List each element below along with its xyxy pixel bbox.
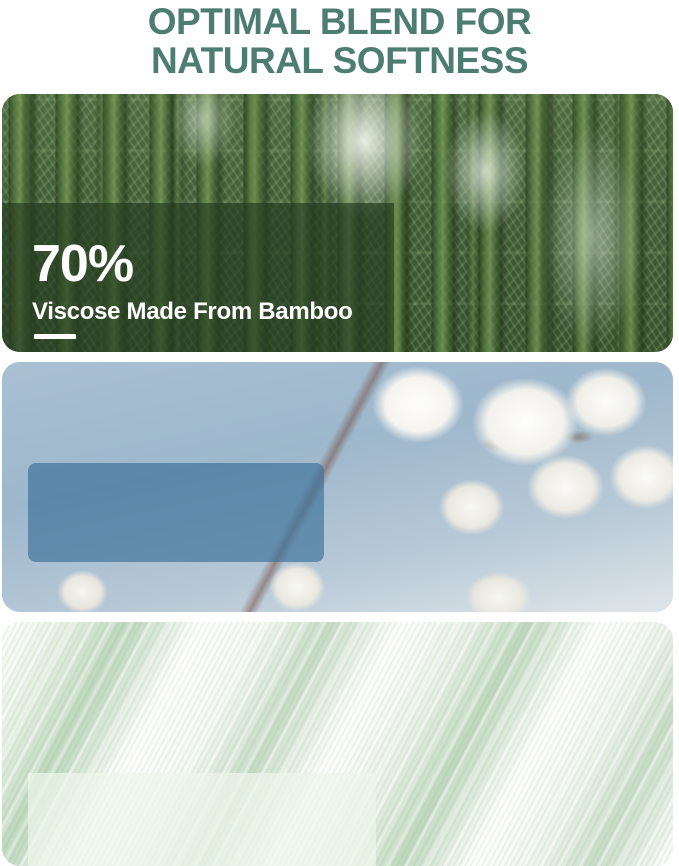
cotton-panel-content: 30% Cotton Durability and pill-resistant bbox=[2, 362, 673, 612]
bamboo-subtitle: Viscose Made From Bamboo bbox=[32, 299, 352, 325]
panel-cotton: 30% Cotton Durability and pill-resistant bbox=[2, 362, 673, 612]
panel-bamboo: 70% Viscose Made From Bamboo Hollow fibe… bbox=[2, 94, 673, 352]
page-title-line-2: NATURAL SOFTNESS bbox=[0, 41, 679, 80]
page-title: OPTIMAL BLEND FOR NATURAL SOFTNESS bbox=[0, 2, 679, 80]
blend-panel-content: Balanced Formula Perfectly blended for e… bbox=[2, 622, 673, 866]
bamboo-divider-rule bbox=[34, 334, 76, 339]
bamboo-panel-content: 70% Viscose Made From Bamboo Hollow fibe… bbox=[2, 94, 673, 352]
infographic-page: OPTIMAL BLEND FOR NATURAL SOFTNESS 70% V… bbox=[0, 0, 679, 866]
bamboo-percentage: 70% bbox=[32, 238, 133, 290]
page-title-line-1: OPTIMAL BLEND FOR bbox=[148, 1, 531, 42]
panel-balanced-formula: Balanced Formula Perfectly blended for e… bbox=[2, 622, 673, 866]
